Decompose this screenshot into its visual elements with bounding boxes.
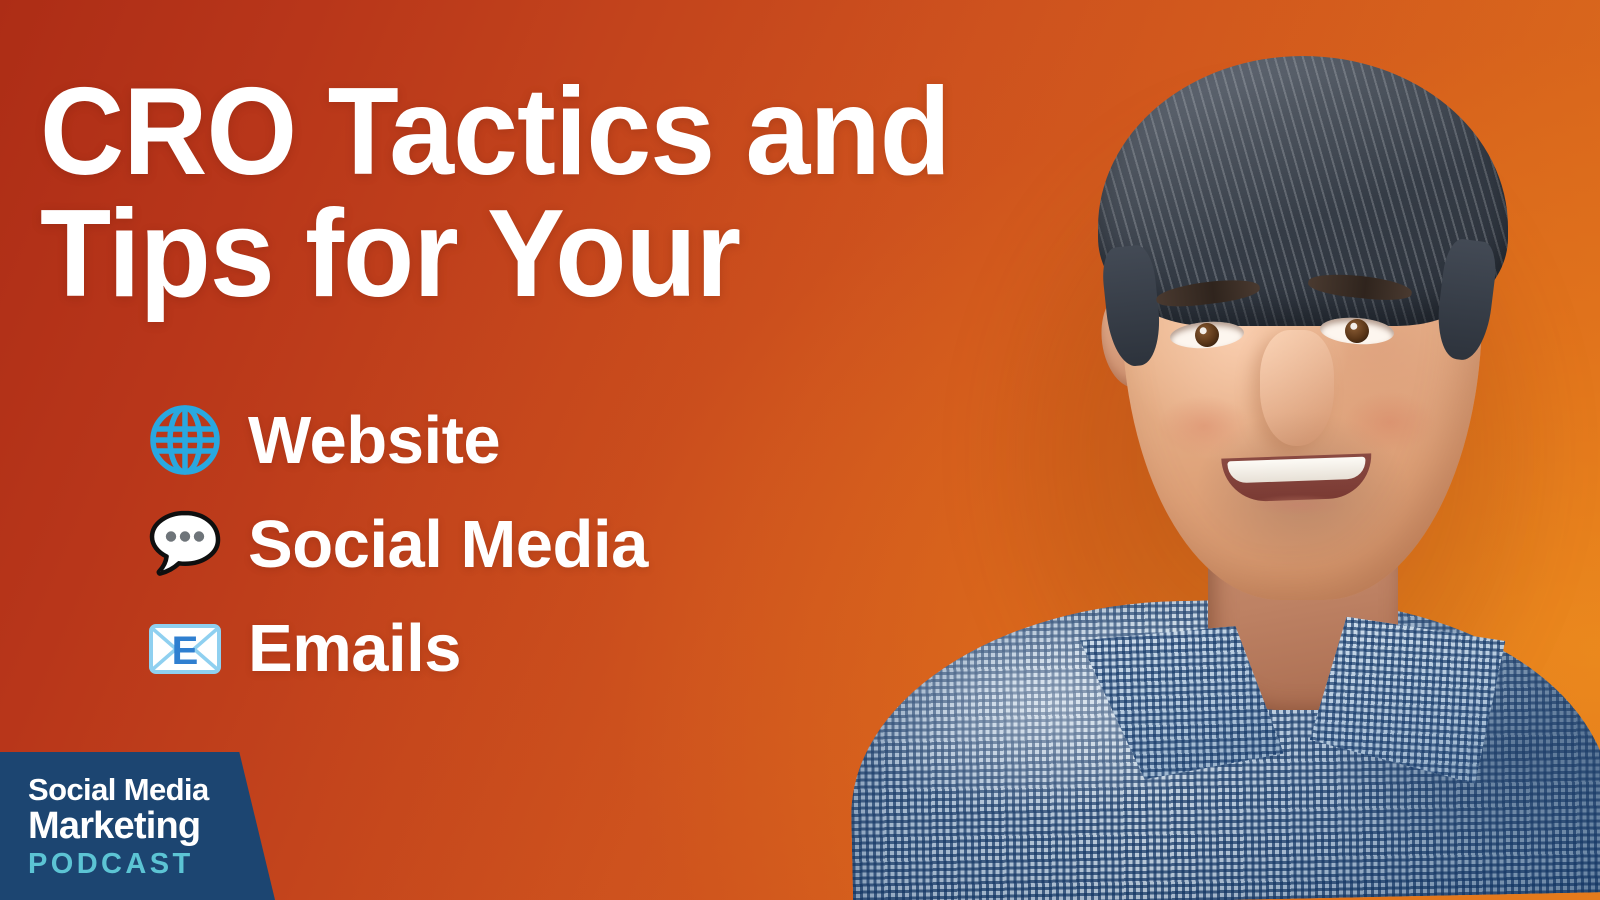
list-item-label: Website — [248, 407, 500, 474]
list-item-label: Emails — [248, 615, 461, 682]
badge-line-podcast: PODCAST — [28, 849, 248, 879]
podcast-episode-cover: CRO Tactics and Tips for Your Website — [0, 0, 1600, 900]
episode-title: CRO Tactics and Tips for Your — [40, 72, 989, 315]
cheek-right — [1330, 382, 1450, 462]
badge-line-marketing: Marketing — [28, 807, 248, 847]
list-item: Website — [142, 388, 962, 492]
iris-right — [1344, 318, 1370, 344]
speech-balloon-icon — [142, 501, 228, 587]
podcast-logo-text: Social Media Marketing PODCAST — [28, 774, 248, 880]
list-item: E Emails — [142, 596, 962, 700]
podcast-logo-badge: Social Media Marketing PODCAST — [0, 752, 276, 900]
iris-left — [1194, 322, 1220, 348]
nose — [1260, 330, 1334, 446]
cheek-left — [1144, 386, 1264, 466]
badge-line-social-media: Social Media — [28, 774, 248, 806]
list-item: Social Media — [142, 492, 962, 596]
channel-list: Website Social Media E — [142, 388, 962, 700]
list-item-label: Social Media — [248, 511, 648, 578]
svg-text:E: E — [172, 629, 199, 673]
lower-lip — [1236, 492, 1360, 518]
teeth — [1227, 457, 1366, 484]
email-envelope-icon: E — [142, 605, 228, 691]
title-line-1: CRO Tactics and — [40, 72, 989, 194]
globe-icon — [142, 397, 228, 483]
title-line-2: Tips for Your — [40, 194, 989, 316]
